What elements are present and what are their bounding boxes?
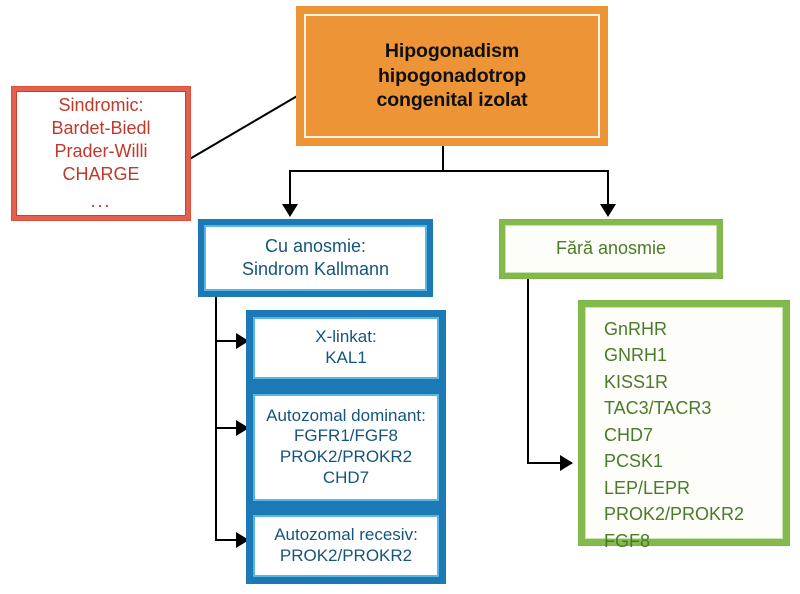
no-anosmia-gene-list[interactable]: GnRHR GNRH1 KISS1R TAC3/TACR3 CHD7 PCSK1… bbox=[578, 300, 790, 546]
anosmia-subheading: Sindrom Kallmann bbox=[242, 258, 389, 281]
connector-to-anosmia bbox=[289, 170, 291, 206]
subgroup-autosomal-dominant[interactable]: Autozomal dominant: FGFR1/FGF8 PROK2/PRO… bbox=[253, 394, 439, 501]
connector-to-no-anosmia bbox=[607, 170, 609, 206]
connector-split-bar bbox=[289, 170, 609, 172]
subgroup-autosomal-dominant-gene-2: CHD7 bbox=[323, 468, 369, 489]
gene-item: GnRHR bbox=[604, 316, 782, 342]
subgroup-autosomal-dominant-heading: Autozomal dominant: bbox=[266, 406, 426, 427]
subgroup-autosomal-recessive-heading: Autozomal recesiv: bbox=[274, 525, 418, 546]
syndromic-heading: Sindromic: bbox=[58, 94, 143, 117]
subgroup-x-linked-gene-0: KAL1 bbox=[325, 348, 367, 369]
gene-item: PROK2/PROKR2 bbox=[604, 501, 782, 527]
no-anosmia-gene-list-inner: GnRHR GNRH1 KISS1R TAC3/TACR3 CHD7 PCSK1… bbox=[585, 307, 783, 539]
connector-root-stem bbox=[442, 146, 444, 172]
gene-item: LEP/LEPR bbox=[604, 475, 782, 501]
root-node-inner: Hipogonadism hipogonadotrop congenital i… bbox=[304, 14, 600, 138]
gene-item: FGF8 bbox=[604, 528, 782, 554]
anosmia-node[interactable]: Cu anosmie: Sindrom Kallmann bbox=[198, 219, 433, 297]
subgroup-autosomal-recessive[interactable]: Autozomal recesiv: PROK2/PROKR2 bbox=[253, 515, 439, 577]
kallmann-subgroup: X-linkat: KAL1 Autozomal dominant: FGFR1… bbox=[246, 310, 446, 584]
syndromic-ellipsis: ... bbox=[90, 190, 111, 213]
root-title-line-3: congenital izolat bbox=[376, 88, 527, 113]
syndromic-item-prader-willi: Prader-Willi bbox=[54, 140, 147, 163]
subgroup-autosomal-recessive-gene-0: PROK2/PROKR2 bbox=[280, 546, 412, 567]
gene-item: GNRH1 bbox=[604, 342, 782, 368]
connector-syndromic-diagonal bbox=[186, 90, 306, 210]
gene-item: TAC3/TACR3 bbox=[604, 395, 782, 421]
root-node[interactable]: Hipogonadism hipogonadotrop congenital i… bbox=[296, 6, 608, 146]
syndromic-node[interactable]: Sindromic: Bardet-Biedl Prader-Willi CHA… bbox=[11, 86, 191, 221]
anosmia-heading: Cu anosmie: bbox=[265, 235, 366, 258]
arrowhead-to-anosmia bbox=[282, 204, 298, 217]
arrowhead-no-anosmia bbox=[560, 455, 573, 471]
arrowhead-to-no-anosmia bbox=[600, 204, 616, 217]
gene-item: KISS1R bbox=[604, 369, 782, 395]
subgroup-autosomal-dominant-gene-0: FGFR1/FGF8 bbox=[294, 426, 398, 447]
connector-no-anosmia-spine bbox=[527, 279, 529, 464]
syndromic-item-bardet-biedl: Bardet-Biedl bbox=[51, 117, 150, 140]
connector-kallmann-spine bbox=[215, 297, 217, 540]
root-title-line-2: hipogonadotrop bbox=[378, 64, 526, 89]
syndromic-item-charge: CHARGE bbox=[62, 163, 139, 186]
no-anosmia-heading: Fără anosmie bbox=[556, 238, 666, 259]
subgroup-x-linked-heading: X-linkat: bbox=[315, 327, 376, 348]
no-anosmia-node-inner: Fără anosmie bbox=[505, 225, 717, 273]
gene-item: PCSK1 bbox=[604, 448, 782, 474]
gene-item: CHD7 bbox=[604, 422, 782, 448]
subgroup-x-linked[interactable]: X-linkat: KAL1 bbox=[253, 317, 439, 379]
syndromic-node-inner: Sindromic: Bardet-Biedl Prader-Willi CHA… bbox=[16, 91, 186, 216]
diagram-canvas: Hipogonadism hipogonadotrop congenital i… bbox=[0, 0, 800, 594]
root-title-line-1: Hipogonadism bbox=[385, 39, 519, 64]
anosmia-node-inner: Cu anosmie: Sindrom Kallmann bbox=[204, 225, 427, 291]
subgroup-autosomal-dominant-gene-1: PROK2/PROKR2 bbox=[280, 447, 412, 468]
no-anosmia-node[interactable]: Fără anosmie bbox=[499, 219, 723, 279]
